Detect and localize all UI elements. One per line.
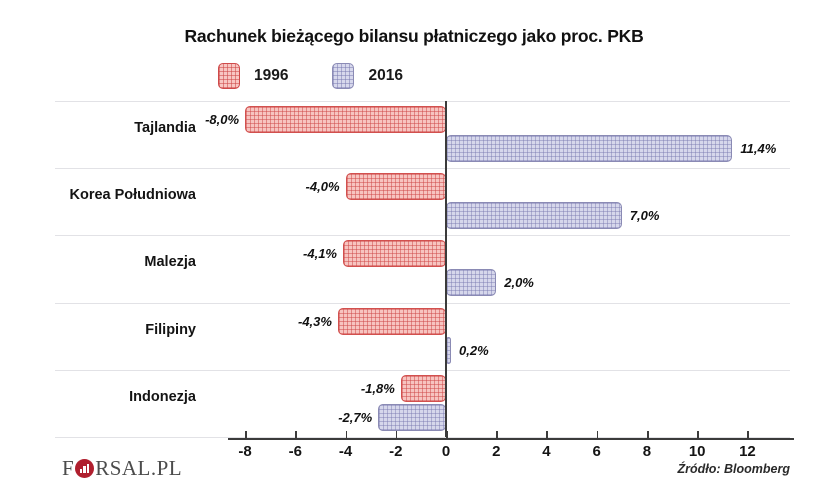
- x-axis-tick-label: -6: [275, 443, 315, 460]
- category-label: Malezja: [0, 254, 196, 270]
- plot-area: Tajlandia-8,0%11,4%Korea Południowa-4,0%…: [0, 101, 828, 438]
- bar-value-label: 11,4%: [740, 135, 776, 162]
- bar-value-label: -8,0%: [193, 106, 239, 133]
- category-label: Korea Południowa: [0, 187, 196, 203]
- category-row: Tajlandia-8,0%11,4%: [0, 101, 828, 168]
- category-row: Indonezja-1,8%-2,7%: [0, 370, 828, 437]
- legend-item-1996[interactable]: 1996: [218, 63, 288, 89]
- zero-axis-line: [445, 101, 447, 437]
- chart-legend: 1996 2016: [218, 63, 403, 89]
- category-label: Filipiny: [0, 322, 196, 338]
- x-axis-tick: [496, 431, 498, 439]
- logo-prefix: F: [62, 456, 74, 481]
- legend-swatch-1996: [218, 63, 240, 89]
- bar-value-label: -4,0%: [294, 173, 340, 200]
- bar-value-label: 7,0%: [630, 202, 660, 229]
- forsal-logo[interactable]: F RSAL.PL: [62, 456, 182, 481]
- bar-2016-Korea Południowa[interactable]: [446, 202, 622, 229]
- x-axis-tick: [546, 431, 548, 439]
- bar-1996-Korea Południowa[interactable]: [346, 173, 446, 200]
- x-axis-tick: [396, 431, 398, 439]
- x-axis-tick: [697, 431, 699, 439]
- bar-2016-Malezja[interactable]: [446, 269, 496, 296]
- x-axis-tick-label: 6: [577, 443, 617, 460]
- category-row: Filipiny-4,3%0,2%: [0, 303, 828, 370]
- x-axis-tick-label: 2: [476, 443, 516, 460]
- legend-swatch-2016: [332, 63, 354, 89]
- bar-value-label: 0,2%: [459, 337, 489, 364]
- bar-1996-Tajlandia[interactable]: [245, 106, 446, 133]
- bar-value-label: -4,3%: [286, 308, 332, 335]
- bar-value-label: -2,7%: [326, 404, 372, 431]
- x-axis-tick-label: 0: [426, 443, 466, 460]
- bar-1996-Malezja[interactable]: [343, 240, 446, 267]
- x-axis-tick: [747, 431, 749, 439]
- x-axis-tick-label: 12: [727, 443, 767, 460]
- x-axis-tick-label: 4: [526, 443, 566, 460]
- bar-chart-circle-icon: [75, 459, 94, 478]
- bar-value-label: -4,1%: [291, 240, 337, 267]
- x-axis-tick: [346, 431, 348, 439]
- category-row: Korea Południowa-4,0%7,0%: [0, 168, 828, 235]
- bar-2016-Indonezja[interactable]: [378, 404, 446, 431]
- x-axis-tick-label: -2: [376, 443, 416, 460]
- x-axis-tick-label: 10: [677, 443, 717, 460]
- bar-1996-Filipiny[interactable]: [338, 308, 446, 335]
- category-row: Malezja-4,1%2,0%: [0, 235, 828, 302]
- legend-label-1996: 1996: [254, 67, 288, 85]
- chart-title: Rachunek bieżącego bilansu płatniczego j…: [0, 26, 828, 47]
- x-axis-tick: [446, 431, 448, 439]
- x-axis-tick: [245, 431, 247, 439]
- x-axis-tick-label: 8: [627, 443, 667, 460]
- bar-2016-Tajlandia[interactable]: [446, 135, 732, 162]
- bar-value-label: -1,8%: [349, 375, 395, 402]
- x-axis-tick-label: -4: [326, 443, 366, 460]
- bar-value-label: 2,0%: [504, 269, 534, 296]
- category-label: Indonezja: [0, 389, 196, 405]
- x-axis-tick: [597, 431, 599, 439]
- x-axis-line: [228, 438, 794, 440]
- legend-label-2016: 2016: [368, 67, 402, 85]
- logo-suffix: RSAL.PL: [95, 456, 182, 481]
- category-label: Tajlandia: [0, 120, 196, 136]
- x-axis-tick-label: -8: [225, 443, 265, 460]
- x-axis-tick: [295, 431, 297, 439]
- x-axis-tick: [647, 431, 649, 439]
- bar-1996-Indonezja[interactable]: [401, 375, 446, 402]
- legend-item-2016[interactable]: 2016: [332, 63, 402, 89]
- source-attribution: Źródło: Bloomberg: [678, 462, 791, 476]
